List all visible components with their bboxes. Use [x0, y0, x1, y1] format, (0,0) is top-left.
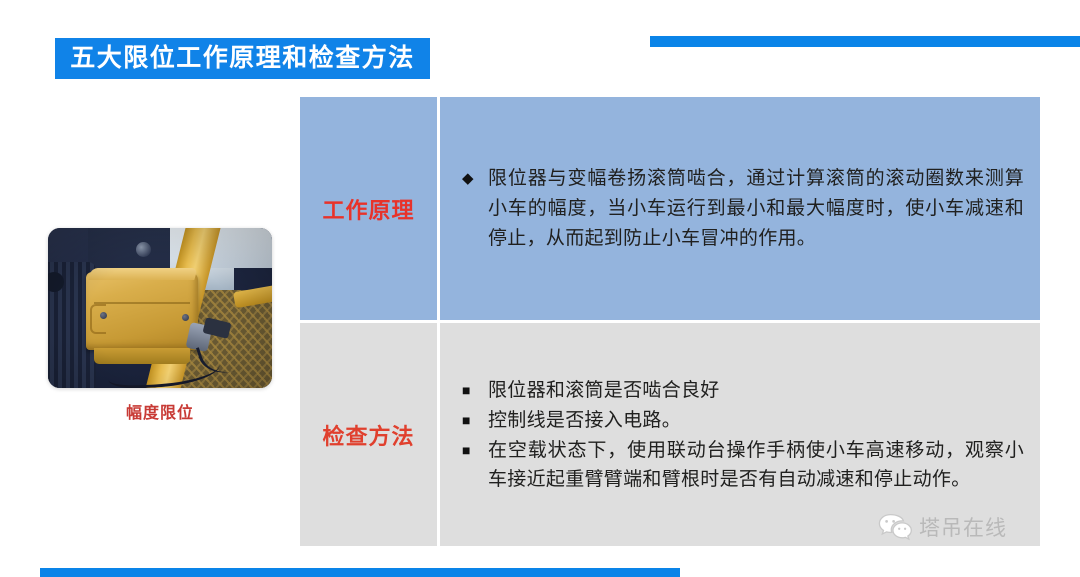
row-label-text: 工作原理: [322, 193, 414, 225]
luffing-limit-switch-photo: [48, 228, 272, 388]
row-label-working-principle: 工作原理: [300, 97, 440, 320]
list-item-text: 在空载状态下，使用联动台操作手柄使小车高速移动，观察小车接近起重臂臂端和臂根时是…: [488, 436, 1024, 494]
list-item-text: 控制线是否接入电路。: [488, 406, 1024, 435]
watermark: 塔吊在线: [878, 512, 1007, 542]
row-label-inspection-method: 检查方法: [300, 323, 440, 546]
diamond-bullet-icon: ◆: [462, 164, 488, 194]
row-content-working-principle: ◆ 限位器与变幅卷扬滚筒啮合，通过计算滚筒的滚动圈数来测算小车的幅度，当小车运行…: [440, 97, 1040, 320]
top-accent-bar: [650, 36, 1080, 47]
slide-title-banner: 五大限位工作原理和检查方法: [55, 38, 430, 79]
square-bullet-icon: ■: [462, 436, 488, 465]
table-row-working-principle: 工作原理 ◆ 限位器与变幅卷扬滚筒啮合，通过计算滚筒的滚动圈数来测算小车的幅度，…: [300, 97, 1040, 320]
row-label-text: 检查方法: [322, 419, 414, 451]
list-item-text: 限位器和滚筒是否啮合良好: [488, 376, 1024, 405]
list-item: ■ 在空载状态下，使用联动台操作手柄使小车高速移动，观察小车接近起重臂臂端和臂根…: [462, 436, 1024, 494]
list-item: ■ 限位器和滚筒是否啮合良好: [462, 376, 1024, 405]
wechat-icon: [878, 513, 912, 541]
bottom-accent-bar: [40, 568, 680, 577]
list-item: ◆ 限位器与变幅卷扬滚筒啮合，通过计算滚筒的滚动圈数来测算小车的幅度，当小车运行…: [462, 164, 1024, 254]
info-table: 工作原理 ◆ 限位器与变幅卷扬滚筒啮合，通过计算滚筒的滚动圈数来测算小车的幅度，…: [300, 97, 1040, 543]
photo-vignette: [48, 228, 272, 388]
photo-caption: 幅度限位: [48, 399, 272, 423]
list-item: ■ 控制线是否接入电路。: [462, 406, 1024, 435]
watermark-text: 塔吊在线: [919, 512, 1007, 542]
square-bullet-icon: ■: [462, 376, 488, 405]
photo-block: 幅度限位: [48, 228, 272, 423]
list-item-text: 限位器与变幅卷扬滚筒啮合，通过计算滚筒的滚动圈数来测算小车的幅度，当小车运行到最…: [488, 164, 1024, 254]
square-bullet-icon: ■: [462, 406, 488, 435]
page-title: 五大限位工作原理和检查方法: [70, 46, 415, 71]
